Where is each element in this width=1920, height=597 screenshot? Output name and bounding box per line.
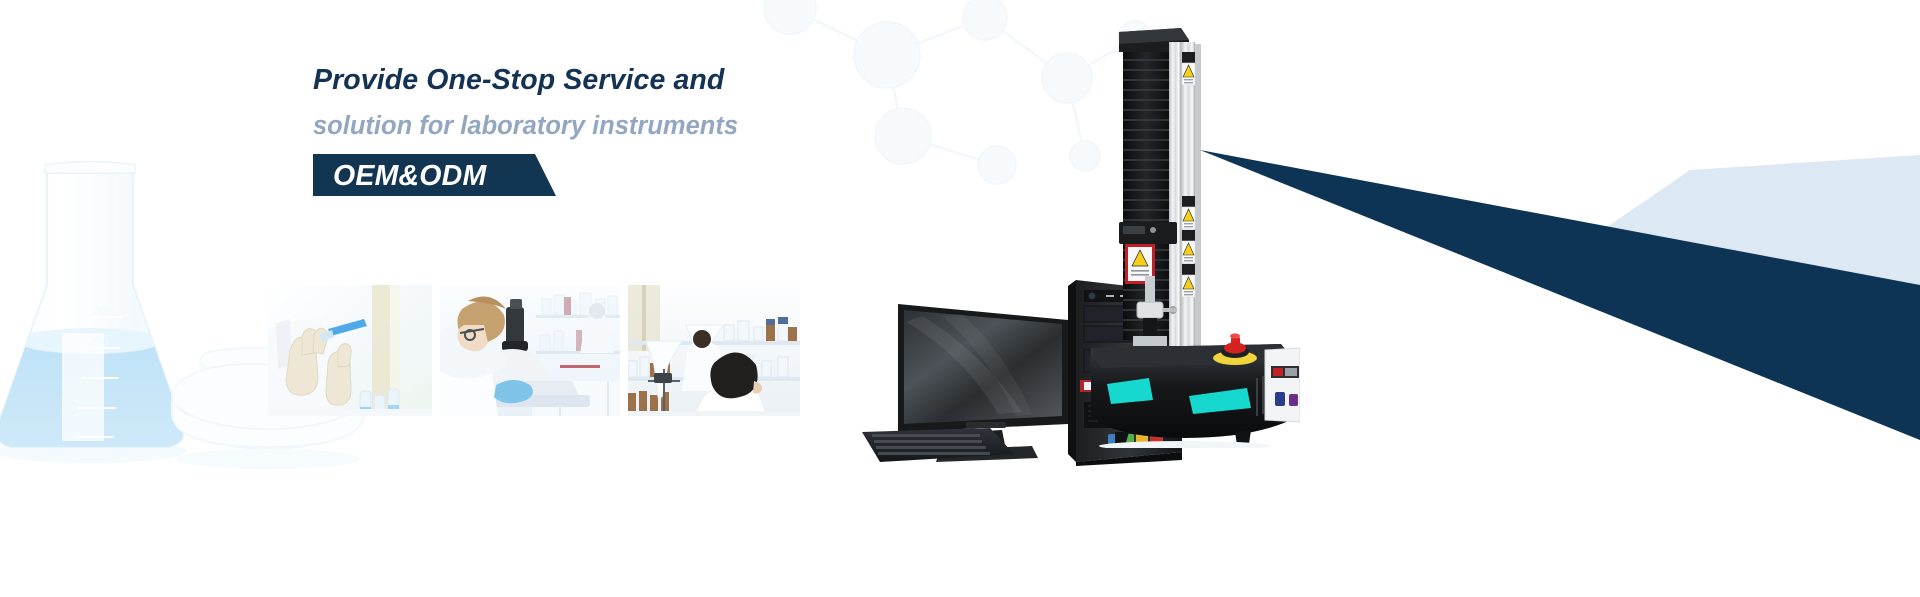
hero-banner: 300 250 200 150 100 mL Provide One-Stop … — [0, 0, 1920, 597]
svg-text:250: 250 — [90, 336, 108, 348]
desktop-computer-image — [862, 276, 1202, 466]
corner-triangle-decor — [1200, 110, 1920, 470]
oem-odm-tag: OEM&ODM — [313, 154, 556, 196]
headline-block: Provide One-Stop Service and solution fo… — [313, 57, 1073, 196]
svg-text:300: 300 — [94, 305, 112, 317]
photo-lab-bench-image — [628, 285, 800, 416]
dark-triangle — [1200, 150, 1920, 440]
headline-line-2: solution for laboratory instruments — [313, 103, 1073, 150]
light-triangle — [1530, 155, 1920, 310]
svg-text:150: 150 — [82, 396, 100, 408]
list-item — [440, 285, 620, 416]
warning-label-group — [1182, 52, 1195, 297]
svg-text:mL: mL — [60, 341, 73, 351]
photo-pipetting-image — [268, 285, 432, 416]
lab-photo-strip — [268, 285, 800, 416]
photo-microscope-image — [440, 285, 620, 416]
headline-line-1: Provide One-Stop Service and — [313, 57, 1073, 103]
emergency-stop-button — [1213, 333, 1257, 365]
oem-odm-tag-label: OEM&ODM — [333, 160, 486, 193]
list-item — [268, 285, 432, 416]
svg-text:100: 100 — [80, 425, 98, 437]
svg-text:200: 200 — [86, 366, 104, 378]
tensile-testing-machine-image — [1085, 18, 1300, 448]
list-item — [628, 285, 800, 416]
